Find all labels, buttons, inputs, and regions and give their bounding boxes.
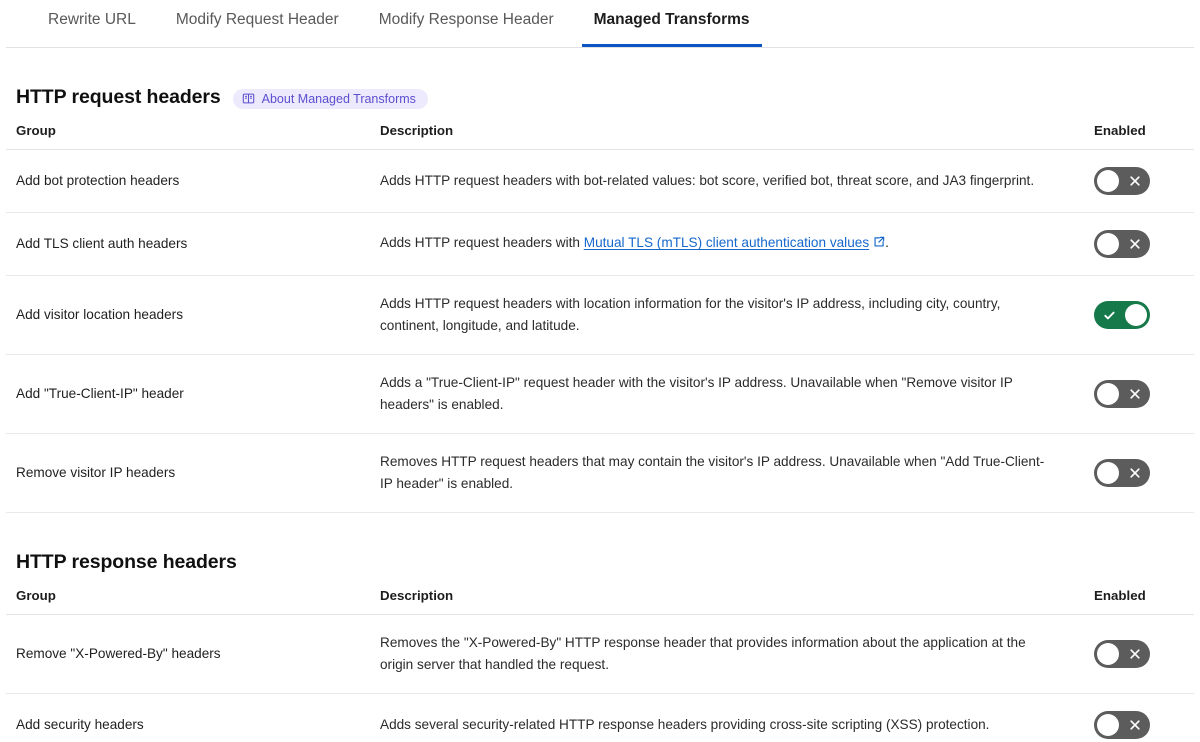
row-enabled-cell: [1087, 276, 1194, 355]
row-group-name: Add security headers: [6, 694, 380, 742]
enabled-toggle[interactable]: [1094, 380, 1150, 408]
close-icon: [1121, 640, 1149, 668]
request-section-header: HTTP request headers About Managed Trans…: [6, 86, 1194, 109]
row-enabled-cell: [1087, 213, 1194, 276]
enabled-toggle[interactable]: [1094, 459, 1150, 487]
response-headers-table: Group Description Enabled Remove "X-Powe…: [6, 588, 1194, 742]
close-icon: [1121, 167, 1149, 195]
row-description: Removes HTTP request headers that may co…: [380, 434, 1087, 513]
http-response-headers-section: HTTP response headers Group Description …: [0, 551, 1200, 742]
row-enabled-cell: [1087, 355, 1194, 434]
table-row: Add bot protection headers Adds HTTP req…: [6, 150, 1194, 213]
row-group-name: Add TLS client auth headers: [6, 213, 380, 276]
about-managed-transforms-badge[interactable]: About Managed Transforms: [233, 89, 428, 109]
request-headers-table: Group Description Enabled Add bot protec…: [6, 123, 1194, 513]
description-text-before: Adds HTTP request headers with: [380, 235, 584, 250]
tab-modify-request-header[interactable]: Modify Request Header: [156, 0, 359, 47]
description-text-after: .: [885, 235, 889, 250]
tab-label: Managed Transforms: [594, 11, 750, 29]
toggle-knob: [1097, 643, 1119, 665]
enabled-toggle[interactable]: [1094, 640, 1150, 668]
column-header-group: Group: [6, 588, 380, 615]
row-enabled-cell: [1087, 615, 1194, 694]
row-description: Removes the "X-Powered-By" HTTP response…: [380, 615, 1087, 694]
toggle-knob: [1097, 170, 1119, 192]
column-header-enabled: Enabled: [1087, 123, 1194, 150]
enabled-toggle[interactable]: [1094, 167, 1150, 195]
book-icon: [242, 92, 255, 105]
tab-label: Modify Response Header: [379, 11, 554, 29]
table-row: Add "True-Client-IP" header Adds a "True…: [6, 355, 1194, 434]
toggle-knob: [1097, 462, 1119, 484]
table-row: Remove visitor IP headers Removes HTTP r…: [6, 434, 1194, 513]
toggle-knob: [1125, 304, 1147, 326]
close-icon: [1121, 230, 1149, 258]
row-enabled-cell: [1087, 150, 1194, 213]
enabled-toggle[interactable]: [1094, 230, 1150, 258]
table-row: Remove "X-Powered-By" headers Removes th…: [6, 615, 1194, 694]
tab-bar: Rewrite URL Modify Request Header Modify…: [0, 0, 1200, 48]
table-header-row: Group Description Enabled: [6, 588, 1194, 615]
row-enabled-cell: [1087, 694, 1194, 742]
row-enabled-cell: [1087, 434, 1194, 513]
tab-label: Modify Request Header: [176, 11, 339, 29]
column-header-enabled: Enabled: [1087, 588, 1194, 615]
response-section-title: HTTP response headers: [16, 551, 237, 574]
enabled-toggle[interactable]: [1094, 301, 1150, 329]
tab-managed-transforms[interactable]: Managed Transforms: [574, 0, 770, 47]
toggle-knob: [1097, 714, 1119, 736]
column-header-group: Group: [6, 123, 380, 150]
row-description: Adds HTTP request headers with location …: [380, 276, 1087, 355]
row-description: Adds HTTP request headers with bot-relat…: [380, 150, 1087, 213]
table-row: Add TLS client auth headers Adds HTTP re…: [6, 213, 1194, 276]
tab-rewrite-url[interactable]: Rewrite URL: [28, 0, 156, 47]
external-link-icon[interactable]: [873, 233, 885, 255]
row-description: Adds a "True-Client-IP" request header w…: [380, 355, 1087, 434]
table-row: Add security headers Adds several securi…: [6, 694, 1194, 742]
row-group-name: Add visitor location headers: [6, 276, 380, 355]
row-description: Adds several security-related HTTP respo…: [380, 694, 1087, 742]
http-request-headers-section: HTTP request headers About Managed Trans…: [0, 86, 1200, 513]
close-icon: [1121, 380, 1149, 408]
close-icon: [1121, 711, 1149, 739]
column-header-description: Description: [380, 588, 1087, 615]
row-group-name: Add bot protection headers: [6, 150, 380, 213]
column-header-description: Description: [380, 123, 1087, 150]
page-title: HTTP request headers: [16, 86, 221, 109]
tab-label: Rewrite URL: [48, 11, 136, 29]
table-header-row: Group Description Enabled: [6, 123, 1194, 150]
about-badge-label: About Managed Transforms: [262, 92, 416, 106]
row-group-name: Remove "X-Powered-By" headers: [6, 615, 380, 694]
toggle-knob: [1097, 233, 1119, 255]
close-icon: [1121, 459, 1149, 487]
tab-modify-response-header[interactable]: Modify Response Header: [359, 0, 574, 47]
mtls-documentation-link[interactable]: Mutual TLS (mTLS) client authentication …: [584, 235, 869, 250]
row-group-name: Add "True-Client-IP" header: [6, 355, 380, 434]
row-group-name: Remove visitor IP headers: [6, 434, 380, 513]
table-row: Add visitor location headers Adds HTTP r…: [6, 276, 1194, 355]
check-icon: [1095, 301, 1123, 329]
toggle-knob: [1097, 383, 1119, 405]
row-description: Adds HTTP request headers with Mutual TL…: [380, 213, 1087, 276]
enabled-toggle[interactable]: [1094, 711, 1150, 739]
response-section-header: HTTP response headers: [6, 551, 1194, 574]
